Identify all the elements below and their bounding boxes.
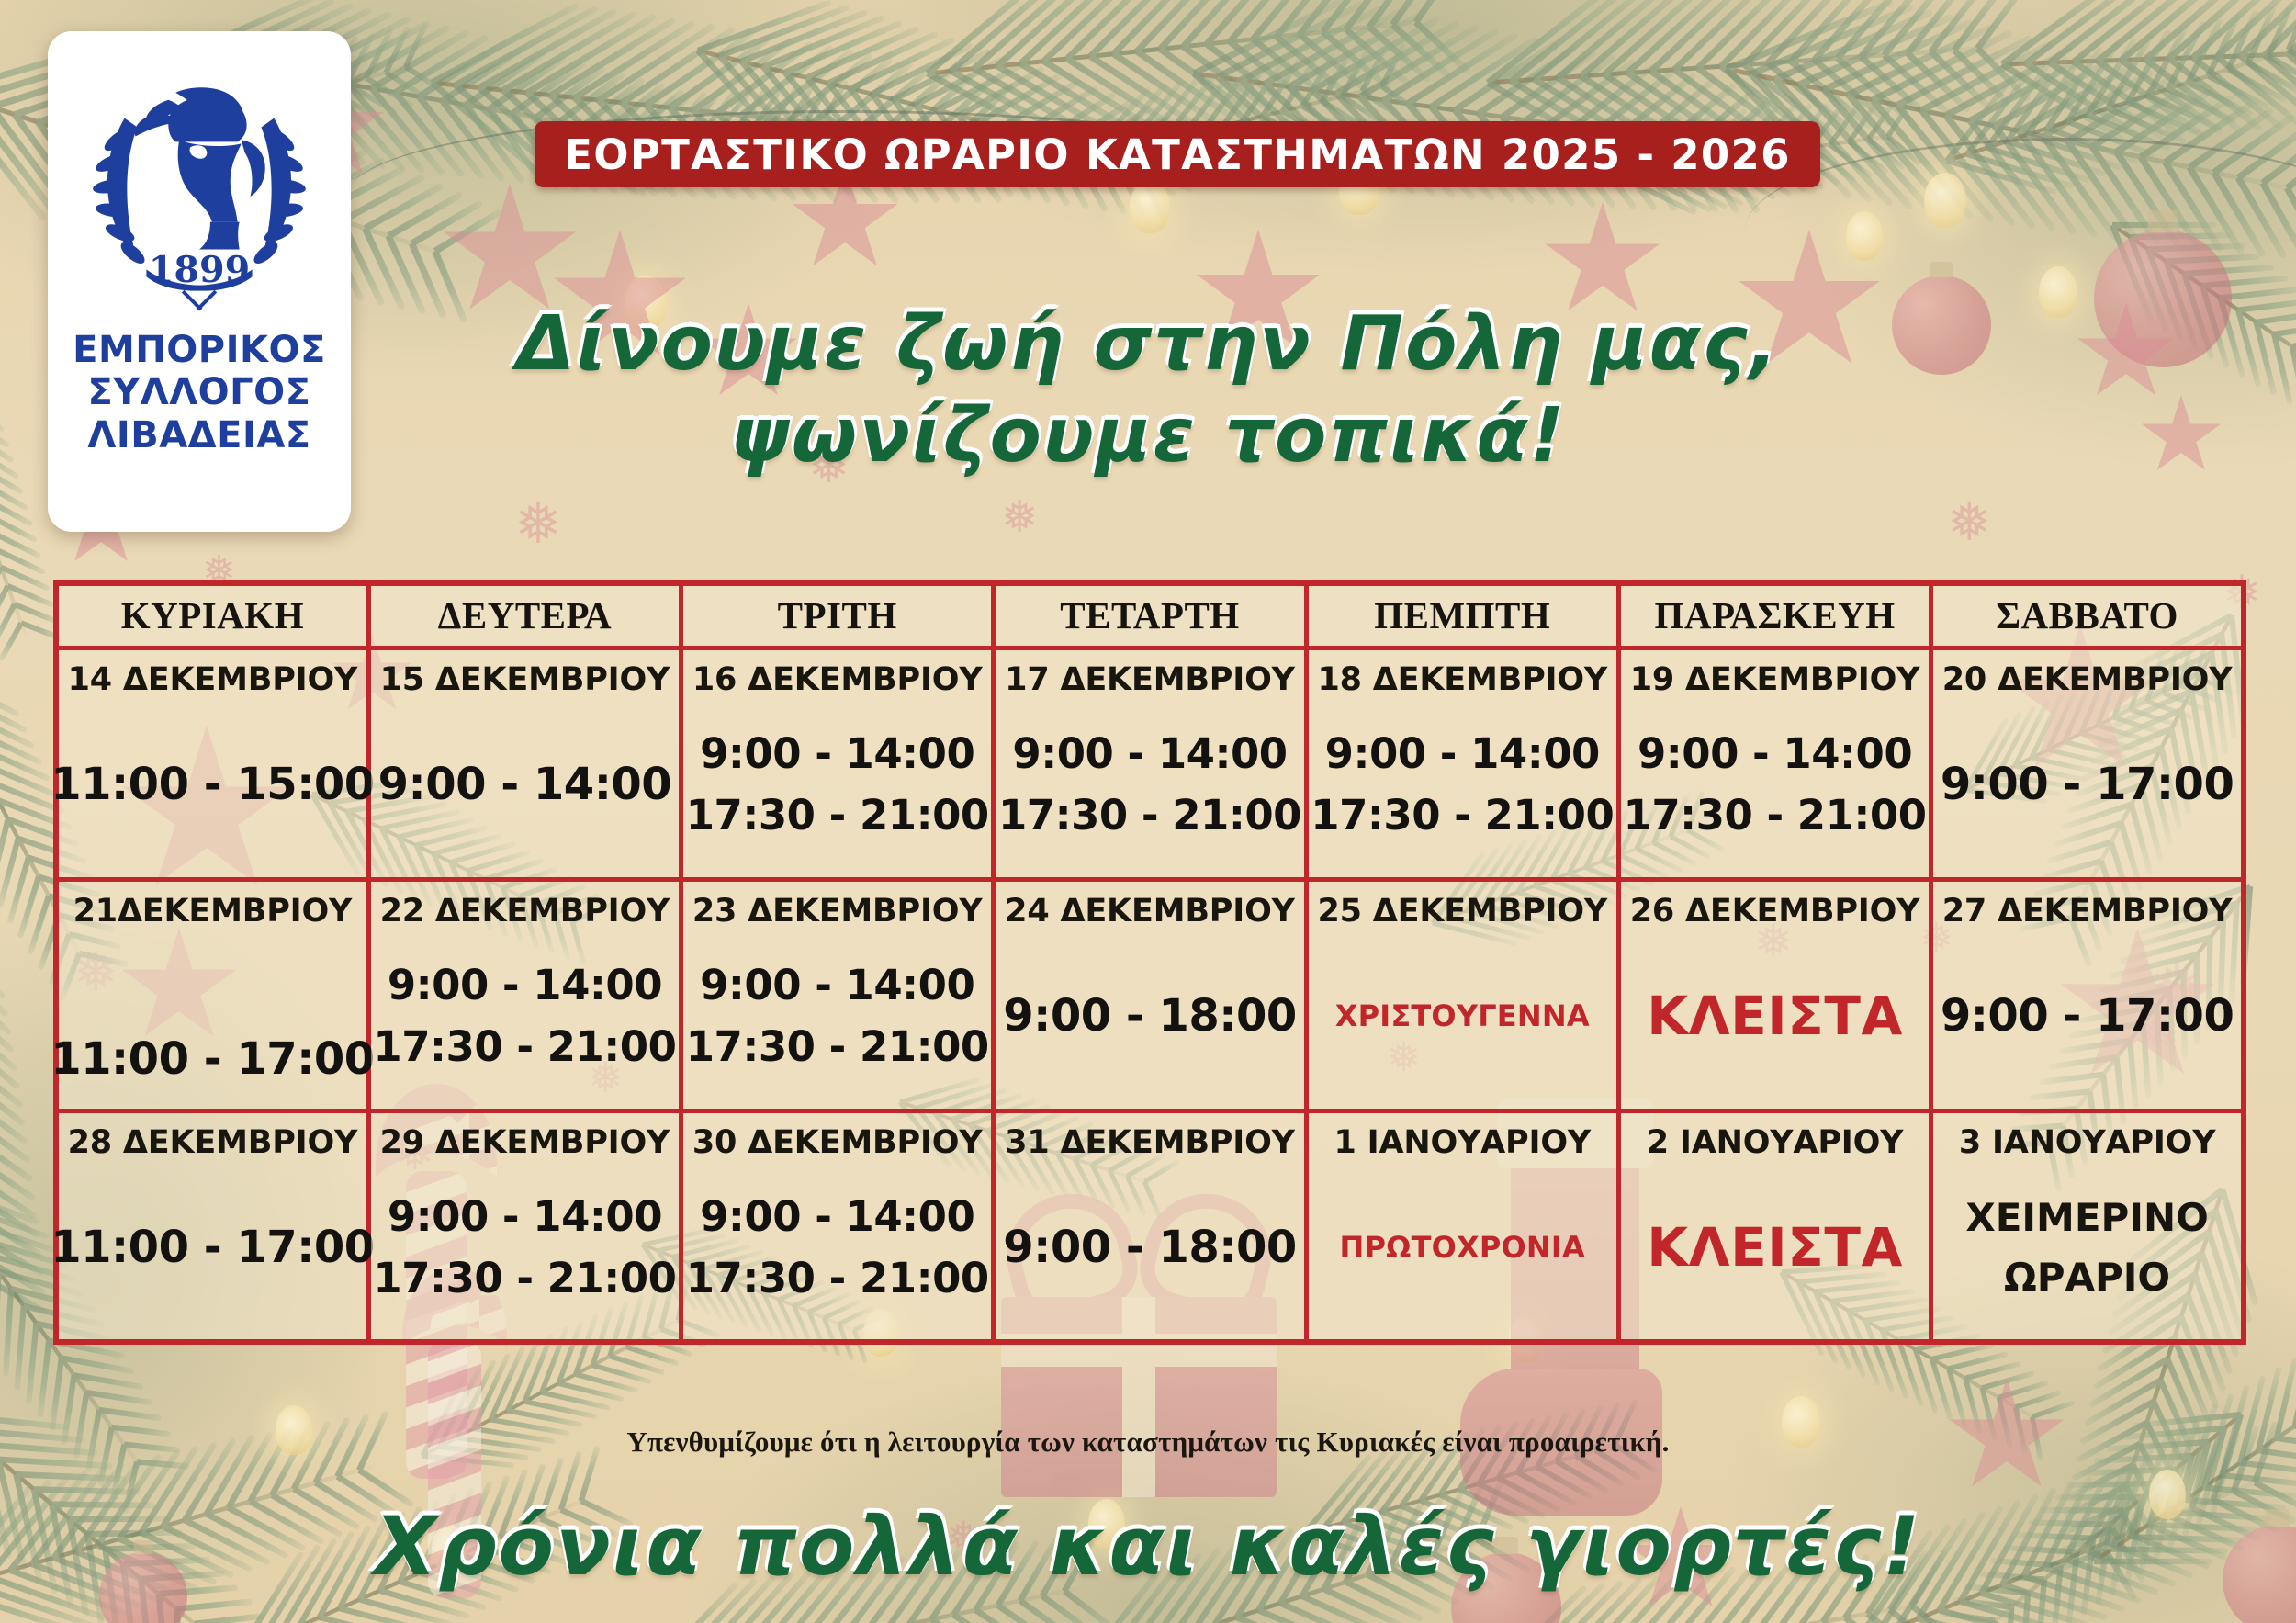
day-cell: 17 ΔΕΚΕΜΒΡΙΟΥ9:00 - 14:0017:30 - 21:00	[994, 648, 1306, 879]
holiday-greeting: Χρόνια πολλά και καλές γιορτές!	[0, 1499, 2296, 1594]
table-body: 14 ΔΕΚΕΜΒΡΙΟΥ11:00 - 15:0015 ΔΕΚΕΜΒΡΙΟΥ9…	[56, 648, 2244, 1342]
day-name-label: ΤΕΤΑΡΤΗ	[1060, 594, 1239, 637]
day-hours-block: ΧΡΙΣΤΟΥΓΕΝΝΑ	[1309, 930, 1616, 1109]
day-hours-block: 11:00 - 17:00	[59, 930, 366, 1109]
opening-hours-line: 17:30 - 21:00	[686, 1022, 989, 1071]
table-header-3: ΤΡΙΤΗ	[681, 583, 994, 648]
day-date-label: 15 ΔΕΚΕΜΒΡΙΟΥ	[380, 661, 670, 698]
table-header-row: ΚΥΡΙΑΚΗΔΕΥΤΕΡΑΤΡΙΤΗΤΕΤΑΡΤΗΠΕΜΠΤΗΠΑΡΑΣΚΕΥ…	[56, 583, 2244, 648]
day-date-label: 29 ΔΕΚΕΜΒΡΙΟΥ	[380, 1124, 670, 1161]
day-hours-block: 9:00 - 18:00	[996, 1161, 1303, 1340]
table-header-2: ΔΕΥΤΕΡΑ	[368, 583, 681, 648]
day-hours-block: 9:00 - 17:00	[1933, 930, 2241, 1109]
day-name-label: ΚΥΡΙΑΚΗ	[121, 594, 304, 637]
winter-hours-label: ΧΕΙΜΕΡΙΝΟ	[1965, 1194, 2208, 1241]
hermes-head-laurel-wreath-icon: 1899	[81, 51, 318, 327]
opening-hours-line: 9:00 - 14:00	[388, 1192, 662, 1241]
day-cell: 1 ΙΑΝΟΥΑΡΙΟΥΠΡΩΤΟΧΡΟΝΙΑ	[1306, 1110, 1618, 1342]
day-hours-block: 9:00 - 14:0017:30 - 21:00	[683, 930, 991, 1109]
opening-hours-line: 17:30 - 21:00	[373, 1254, 676, 1302]
logo-year: 1899	[149, 249, 250, 291]
table-header-6: ΠΑΡΑΣΚΕΥΗ	[1618, 583, 1930, 648]
day-date-label: 3 ΙΑΝΟΥΑΡΙΟΥ	[1959, 1124, 2216, 1161]
opening-hours-line: 9:00 - 14:00	[388, 961, 662, 1009]
holiday-name-label: ΠΡΩΤΟΧΡΟΝΙΑ	[1340, 1230, 1585, 1265]
day-date-label: 19 ΔΕΚΕΜΒΡΙΟΥ	[1630, 661, 1920, 698]
opening-hours-line: 9:00 - 14:00	[700, 729, 974, 778]
closed-badge: ΚΛΕΙΣΤΑ	[1647, 1216, 1903, 1279]
table-row: 21ΔΕΚΕΜΒΡΙΟΥ11:00 - 17:0022 ΔΕΚΕΜΒΡΙΟΥ9:…	[56, 879, 2244, 1110]
day-cell-content: 22 ΔΕΚΕΜΒΡΙΟΥ9:00 - 14:0017:30 - 21:00	[371, 882, 679, 1109]
day-cell: 26 ΔΕΚΕΜΒΡΙΟΥΚΛΕΙΣΤΑ	[1618, 879, 1930, 1110]
day-cell: 28 ΔΕΚΕΜΒΡΙΟΥ11:00 - 17:00	[56, 1110, 368, 1342]
day-hours-block: ΚΛΕΙΣΤΑ	[1621, 930, 1929, 1109]
sunday-reminder-note: Υπενθυμίζουμε ότι η λειτουργία των κατασ…	[0, 1426, 2296, 1459]
day-hours-block: ΚΛΕΙΣΤΑ	[1621, 1161, 1929, 1340]
day-cell-content: 26 ΔΕΚΕΜΒΡΙΟΥΚΛΕΙΣΤΑ	[1621, 882, 1929, 1109]
opening-hours-line: 9:00 - 14:00	[1325, 729, 1600, 778]
opening-hours-line: 17:30 - 21:00	[373, 1022, 676, 1071]
day-cell-content: 21ΔΕΚΕΜΒΡΙΟΥ11:00 - 17:00	[59, 882, 366, 1109]
day-cell-content: 24 ΔΕΚΕΜΒΡΙΟΥ9:00 - 18:00	[996, 882, 1303, 1109]
opening-hours-line: 9:00 - 14:00	[378, 759, 672, 810]
day-cell: 15 ΔΕΚΕΜΒΡΙΟΥ9:00 - 14:00	[368, 648, 681, 879]
opening-hours-line: 9:00 - 14:00	[700, 1192, 974, 1241]
day-cell-content: 2 ΙΑΝΟΥΑΡΙΟΥΚΛΕΙΣΤΑ	[1621, 1113, 1929, 1340]
light-string-wire	[1745, 138, 2296, 321]
day-cell-content: 3 ΙΑΝΟΥΑΡΙΟΥΧΕΙΜΕΡΙΝΟΩΡΑΡΙΟ	[1933, 1113, 2241, 1340]
day-date-label: 30 ΔΕΚΕΜΒΡΙΟΥ	[692, 1124, 983, 1161]
day-name-label: ΣΑΒΒΑΤΟ	[1996, 594, 2178, 637]
day-hours-block: 9:00 - 14:0017:30 - 21:00	[683, 1161, 991, 1340]
day-cell-content: 20 ΔΕΚΕΜΒΡΙΟΥ9:00 - 17:00	[1933, 650, 2241, 877]
poster-canvas: ❅❅❅❅❅❅❅❅❅❅❅❅❅❅❅	[0, 0, 2296, 1623]
opening-hours-line: 9:00 - 14:00	[1638, 729, 1912, 778]
day-name-label: ΠΕΜΠΤΗ	[1374, 594, 1550, 637]
christmas-light-icon	[1130, 180, 1170, 233]
day-date-label: 24 ΔΕΚΕΜΒΡΙΟΥ	[1005, 893, 1295, 930]
closed-badge: ΚΛΕΙΣΤΑ	[1647, 985, 1903, 1047]
day-date-label: 1 ΙΑΝΟΥΑΡΙΟΥ	[1334, 1124, 1592, 1161]
holiday-name-label: ΧΡΙΣΤΟΥΓΕΝΝΑ	[1335, 998, 1590, 1033]
title-banner: ΕΟΡΤΑΣΤΙΚΟ ΩΡΑΡΙΟ ΚΑΤΑΣΤΗΜΑΤΩΝ 2025 - 20…	[535, 121, 1820, 187]
day-cell-content: 23 ΔΕΚΕΜΒΡΙΟΥ9:00 - 14:0017:30 - 21:00	[683, 882, 991, 1109]
day-cell-content: 30 ΔΕΚΕΜΒΡΙΟΥ9:00 - 14:0017:30 - 21:00	[683, 1113, 991, 1340]
day-cell: 24 ΔΕΚΕΜΒΡΙΟΥ9:00 - 18:00	[994, 879, 1306, 1110]
day-hours-block: 11:00 - 17:00	[59, 1161, 366, 1340]
day-hours-block: ΠΡΩΤΟΧΡΟΝΙΑ	[1309, 1161, 1616, 1340]
day-cell-content: 15 ΔΕΚΕΜΒΡΙΟΥ9:00 - 14:00	[371, 650, 679, 877]
christmas-light-icon	[1924, 173, 1966, 228]
day-cell-content: 18 ΔΕΚΕΜΒΡΙΟΥ9:00 - 14:0017:30 - 21:00	[1309, 650, 1616, 877]
day-date-label: 25 ΔΕΚΕΜΒΡΙΟΥ	[1317, 893, 1607, 930]
day-cell-content: 14 ΔΕΚΕΜΒΡΙΟΥ11:00 - 15:00	[59, 650, 366, 877]
day-date-label: 23 ΔΕΚΕΜΒΡΙΟΥ	[692, 893, 983, 930]
day-cell: 3 ΙΑΝΟΥΑΡΙΟΥΧΕΙΜΕΡΙΝΟΩΡΑΡΙΟ	[1931, 1110, 2244, 1342]
day-hours-block: 9:00 - 14:0017:30 - 21:00	[1309, 698, 1616, 877]
day-cell: 31 ΔΕΚΕΜΒΡΙΟΥ9:00 - 18:00	[994, 1110, 1306, 1342]
day-hours-block: 9:00 - 14:00	[371, 698, 679, 877]
opening-hours-line: 9:00 - 14:00	[1012, 729, 1287, 778]
day-date-label: 27 ΔΕΚΕΜΒΡΙΟΥ	[1942, 893, 2233, 930]
day-name-label: ΤΡΙΤΗ	[778, 594, 897, 637]
day-name-label: ΠΑΡΑΣΚΕΥΗ	[1654, 594, 1895, 637]
snowflake-icon: ❅	[1947, 496, 1992, 549]
opening-hours-line: 17:30 - 21:00	[1624, 791, 1927, 840]
day-cell-content: 29 ΔΕΚΕΜΒΡΙΟΥ9:00 - 14:0017:30 - 21:00	[371, 1113, 679, 1340]
opening-hours-line: 17:30 - 21:00	[686, 1254, 989, 1302]
christmas-light-icon	[1846, 211, 1883, 261]
day-cell: 2 ΙΑΝΟΥΑΡΙΟΥΚΛΕΙΣΤΑ	[1618, 1110, 1930, 1342]
day-date-label: 18 ΔΕΚΕΜΒΡΙΟΥ	[1317, 661, 1607, 698]
snowflake-icon: ❅	[1001, 496, 1038, 540]
snowflake-icon: ❅	[514, 496, 562, 553]
opening-hours-line: 9:00 - 18:00	[1003, 1222, 1297, 1273]
day-hours-block: 9:00 - 14:0017:30 - 21:00	[371, 1161, 679, 1340]
opening-hours-line: 11:00 - 17:00	[51, 1033, 374, 1085]
day-date-label: 22 ΔΕΚΕΜΒΡΙΟΥ	[380, 893, 670, 930]
opening-hours-line: 11:00 - 15:00	[51, 759, 374, 810]
opening-hours-line: 17:30 - 21:00	[686, 791, 989, 840]
day-hours-block: 9:00 - 14:0017:30 - 21:00	[683, 698, 991, 877]
pine-branch-icon	[1918, 0, 2296, 251]
day-hours-block: 9:00 - 14:0017:30 - 21:00	[1621, 698, 1929, 877]
opening-hours-line: 17:30 - 21:00	[998, 791, 1301, 840]
slogan-line-1: Δίνουμε ζωή στην Πόλη μας,	[516, 300, 1779, 388]
day-cell-content: 17 ΔΕΚΕΜΒΡΙΟΥ9:00 - 14:0017:30 - 21:00	[996, 650, 1303, 877]
slogan: Δίνουμε ζωή στην Πόλη μας, ψωνίζουμε τοπ…	[0, 299, 2296, 482]
day-date-label: 20 ΔΕΚΕΜΒΡΙΟΥ	[1942, 661, 2233, 698]
day-hours-block: 9:00 - 14:0017:30 - 21:00	[996, 698, 1303, 877]
day-cell: 27 ΔΕΚΕΜΒΡΙΟΥ9:00 - 17:00	[1931, 879, 2244, 1110]
day-date-label: 28 ΔΕΚΕΜΒΡΙΟΥ	[68, 1124, 358, 1161]
day-cell: 19 ΔΕΚΕΜΒΡΙΟΥ9:00 - 14:0017:30 - 21:00	[1618, 648, 1930, 879]
day-date-label: 2 ΙΑΝΟΥΑΡΙΟΥ	[1647, 1124, 1904, 1161]
day-cell-content: 16 ΔΕΚΕΜΒΡΙΟΥ9:00 - 14:0017:30 - 21:00	[683, 650, 991, 877]
day-cell-content: 1 ΙΑΝΟΥΑΡΙΟΥΠΡΩΤΟΧΡΟΝΙΑ	[1309, 1113, 1616, 1340]
day-hours-block: 9:00 - 18:00	[996, 930, 1303, 1109]
day-cell: 23 ΔΕΚΕΜΒΡΙΟΥ9:00 - 14:0017:30 - 21:00	[681, 879, 994, 1110]
day-date-label: 26 ΔΕΚΕΜΒΡΙΟΥ	[1630, 893, 1920, 930]
day-cell: 14 ΔΕΚΕΜΒΡΙΟΥ11:00 - 15:00	[56, 648, 368, 879]
table-row: 14 ΔΕΚΕΜΒΡΙΟΥ11:00 - 15:0015 ΔΕΚΕΜΒΡΙΟΥ9…	[56, 648, 2244, 879]
table-header-5: ΠΕΜΠΤΗ	[1306, 583, 1618, 648]
day-cell: 22 ΔΕΚΕΜΒΡΙΟΥ9:00 - 14:0017:30 - 21:00	[368, 879, 681, 1110]
slogan-line-2: ψωνίζουμε τοπικά!	[0, 390, 2296, 482]
day-date-label: 31 ΔΕΚΕΜΒΡΙΟΥ	[1005, 1124, 1295, 1161]
table-header-1: ΚΥΡΙΑΚΗ	[56, 583, 368, 648]
table-header-4: ΤΕΤΑΡΤΗ	[994, 583, 1306, 648]
day-cell-content: 28 ΔΕΚΕΜΒΡΙΟΥ11:00 - 17:00	[59, 1113, 366, 1340]
pine-branch-icon	[1998, 0, 2296, 184]
table-row: 28 ΔΕΚΕΜΒΡΙΟΥ11:00 - 17:0029 ΔΕΚΕΜΒΡΙΟΥ9…	[56, 1110, 2244, 1342]
schedule-table-container: ΚΥΡΙΑΚΗΔΕΥΤΕΡΑΤΡΙΤΗΤΕΤΑΡΤΗΠΕΜΠΤΗΠΑΡΑΣΚΕΥ…	[53, 580, 2246, 1345]
day-cell-content: 31 ΔΕΚΕΜΒΡΙΟΥ9:00 - 18:00	[996, 1113, 1303, 1340]
day-cell-content: 27 ΔΕΚΕΜΒΡΙΟΥ9:00 - 17:00	[1933, 882, 2241, 1109]
winter-hours-label: ΩΡΑΡΙΟ	[2004, 1254, 2170, 1301]
page-title: ΕΟΡΤΑΣΤΙΚΟ ΩΡΑΡΙΟ ΚΑΤΑΣΤΗΜΑΤΩΝ 2025 - 20…	[564, 130, 1790, 179]
day-hours-block: 9:00 - 14:0017:30 - 21:00	[371, 930, 679, 1109]
day-cell: 29 ΔΕΚΕΜΒΡΙΟΥ9:00 - 14:0017:30 - 21:00	[368, 1110, 681, 1342]
day-cell: 18 ΔΕΚΕΜΒΡΙΟΥ9:00 - 14:0017:30 - 21:00	[1306, 648, 1618, 879]
day-cell: 30 ΔΕΚΕΜΒΡΙΟΥ9:00 - 14:0017:30 - 21:00	[681, 1110, 994, 1342]
opening-hours-line: 9:00 - 14:00	[700, 961, 974, 1009]
day-date-label: 16 ΔΕΚΕΜΒΡΙΟΥ	[692, 661, 983, 698]
opening-hours-line: 9:00 - 17:00	[1941, 990, 2234, 1042]
day-date-label: 17 ΔΕΚΕΜΒΡΙΟΥ	[1005, 661, 1295, 698]
day-name-label: ΔΕΥΤΕΡΑ	[438, 594, 612, 637]
day-date-label: 21ΔΕΚΕΜΒΡΙΟΥ	[73, 893, 353, 930]
opening-hours-line: 11:00 - 17:00	[51, 1222, 374, 1273]
day-cell: 21ΔΕΚΕΜΒΡΙΟΥ11:00 - 17:00	[56, 879, 368, 1110]
day-hours-block: 9:00 - 17:00	[1933, 698, 2241, 877]
day-cell: 16 ΔΕΚΕΜΒΡΙΟΥ9:00 - 14:0017:30 - 21:00	[681, 648, 994, 879]
day-cell: 20 ΔΕΚΕΜΒΡΙΟΥ9:00 - 17:00	[1931, 648, 2244, 879]
day-cell: 25 ΔΕΚΕΜΒΡΙΟΥΧΡΙΣΤΟΥΓΕΝΝΑ	[1306, 879, 1618, 1110]
opening-hours-line: 9:00 - 17:00	[1941, 759, 2234, 810]
day-hours-block: ΧΕΙΜΕΡΙΝΟΩΡΑΡΙΟ	[1933, 1161, 2241, 1340]
day-hours-block: 11:00 - 15:00	[59, 698, 366, 877]
schedule-table: ΚΥΡΙΑΚΗΔΕΥΤΕΡΑΤΡΙΤΗΤΕΤΑΡΤΗΠΕΜΠΤΗΠΑΡΑΣΚΕΥ…	[53, 580, 2246, 1345]
table-header-7: ΣΑΒΒΑΤΟ	[1931, 583, 2244, 648]
opening-hours-line: 9:00 - 18:00	[1003, 990, 1297, 1042]
opening-hours-line: 17:30 - 21:00	[1311, 791, 1614, 840]
day-cell-content: 19 ΔΕΚΕΜΒΡΙΟΥ9:00 - 14:0017:30 - 21:00	[1621, 650, 1929, 877]
day-cell-content: 25 ΔΕΚΕΜΒΡΙΟΥΧΡΙΣΤΟΥΓΕΝΝΑ	[1309, 882, 1616, 1109]
day-date-label: 14 ΔΕΚΕΜΒΡΙΟΥ	[68, 661, 358, 698]
